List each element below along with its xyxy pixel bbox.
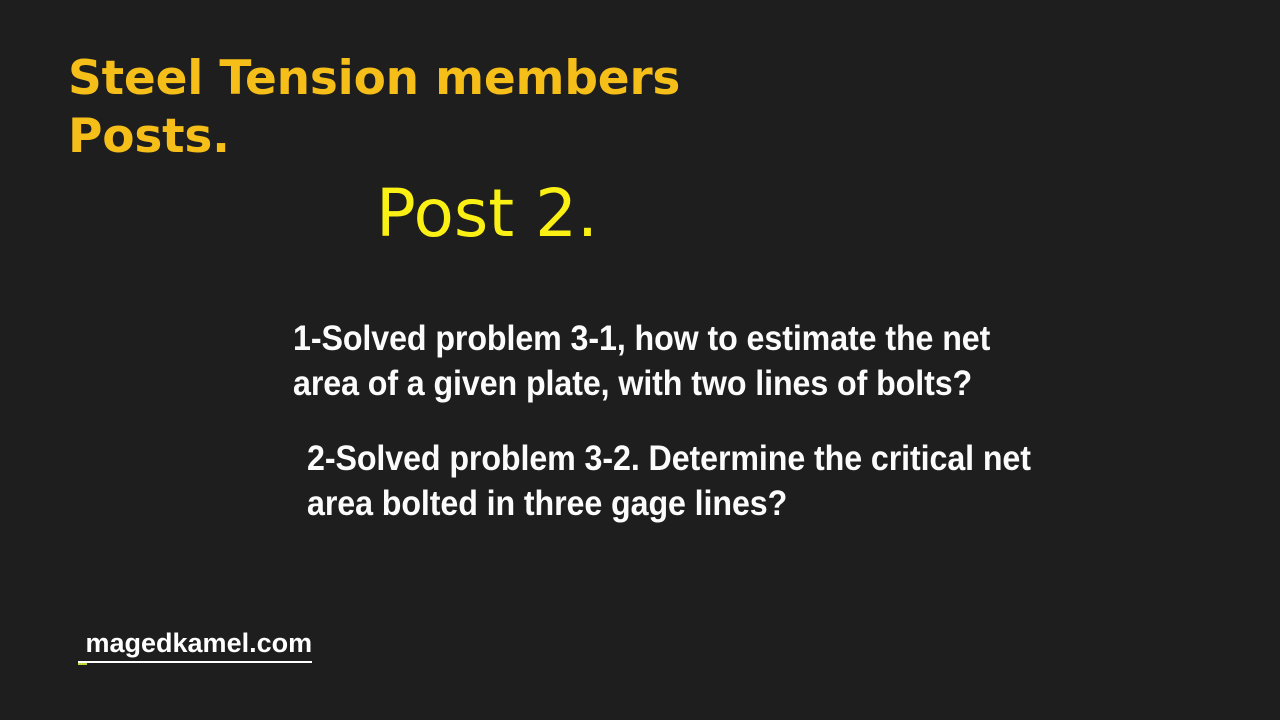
body-paragraph-2: 2-Solved problem 3-2. Determine the crit… [307, 436, 1061, 526]
slide-subtitle: Post 2. [376, 176, 598, 252]
footer-accent-mark [78, 663, 87, 665]
slide-title: Steel Tension members Posts. [68, 50, 828, 166]
body-paragraph-1: 1-Solved problem 3-1, how to estimate th… [293, 316, 1029, 406]
body-paragraph-1-line-2: area of a given plate, with two lines of… [293, 361, 1029, 406]
body-paragraph-1-line-1: 1-Solved problem 3-1, how to estimate th… [293, 316, 1029, 361]
slide-title-line-1: Steel Tension members [68, 50, 828, 108]
slide-canvas: Steel Tension members Posts. Post 2. 1-S… [0, 0, 1280, 720]
website-link[interactable]: magedkamel.com [78, 626, 312, 663]
slide-footer: magedkamel.com [78, 626, 312, 663]
slide-title-line-2: Posts. [68, 108, 828, 166]
body-paragraph-2-line-2: area bolted in three gage lines? [307, 481, 1061, 526]
body-paragraph-2-line-1: 2-Solved problem 3-2. Determine the crit… [307, 436, 1061, 481]
